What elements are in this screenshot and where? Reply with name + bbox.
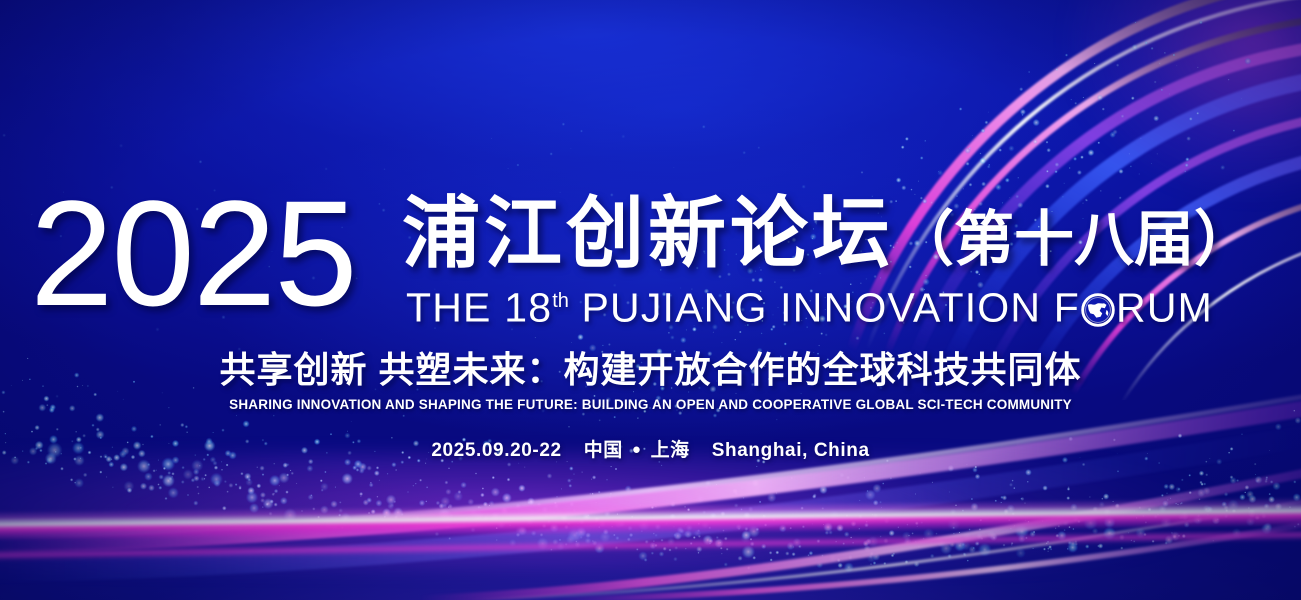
location-separator-icon: ●	[632, 441, 642, 458]
year-heading: 2025	[30, 178, 356, 328]
location-city-cn: 上海	[651, 440, 690, 461]
title-english-suffix: RUM	[1116, 285, 1213, 331]
title-chinese: 浦江创新论坛（第十八届）	[402, 190, 1254, 283]
poster-content: 2025 浦江创新论坛（第十八届） THE 18th PUJIANG INNOV…	[0, 0, 1301, 600]
title-chinese-main: 浦江创新论坛	[402, 189, 894, 277]
globe-icon	[1081, 290, 1115, 324]
location-country-cn: 中国	[584, 440, 623, 461]
title-english-ordinal: th	[552, 290, 569, 312]
title-chinese-edition: （第十八届）	[894, 206, 1254, 273]
location-english: Shanghai, China	[712, 440, 870, 461]
slogan-english: SHARING INNOVATION AND SHAPING THE FUTUR…	[0, 396, 1301, 414]
slogan-chinese: 共享创新 共塑未来：构建开放合作的全球科技共同体	[0, 349, 1301, 391]
title-english-mid: PUJIANG INNOVATION F	[569, 285, 1080, 331]
title-english: THE 18th PUJIANG INNOVATION FRUM	[406, 278, 1213, 331]
date-location-bar: 2025.09.20-22中国●上海Shanghai, China	[0, 437, 1301, 464]
event-poster: 2025 浦江创新论坛（第十八届） THE 18th PUJIANG INNOV…	[0, 0, 1301, 600]
title-english-prefix: THE 18	[406, 285, 552, 331]
event-date: 2025.09.20-22	[431, 440, 561, 461]
